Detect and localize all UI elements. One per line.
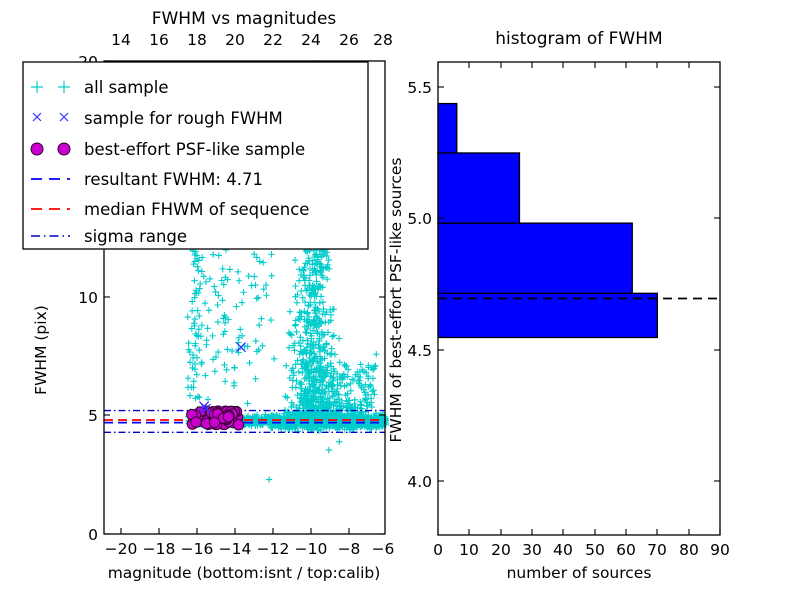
x-tick-label: 0 xyxy=(433,541,443,559)
top-tick-label: 24 xyxy=(301,31,321,49)
x-tick-label: 30 xyxy=(522,541,542,559)
psf-sample-point xyxy=(191,417,201,427)
legend-label: sigma range xyxy=(84,227,187,246)
y-tick-label: 4.0 xyxy=(407,473,432,491)
y-tick-label: 10 xyxy=(78,289,98,307)
left-panel-ylabel: FWHM (pix) xyxy=(32,305,50,395)
left-panel-title: FWHM vs magnitudes xyxy=(152,9,337,29)
right-panel: histogram of FWHM xyxy=(387,29,730,582)
x-tick-label: −18 xyxy=(143,540,176,558)
top-tick-label: 18 xyxy=(187,31,207,49)
legend: all sample sample for rough FWHM best-ef… xyxy=(23,62,368,249)
psf-sample-point xyxy=(233,420,243,430)
psf-sample-point xyxy=(223,412,233,422)
x-tick-label: −6 xyxy=(372,540,395,558)
y-tick-label: 0 xyxy=(88,526,98,544)
right-panel-title: histogram of FWHM xyxy=(495,29,662,49)
x-tick-label: −16 xyxy=(181,540,214,558)
x-tick-label: 90 xyxy=(710,541,730,559)
x-tick-label: 20 xyxy=(491,541,511,559)
legend-label: all sample xyxy=(84,78,169,97)
x-tick-label: 40 xyxy=(553,541,573,559)
right-panel-xlabel: number of sources xyxy=(507,564,652,582)
y-tick-label: 5.0 xyxy=(407,210,432,228)
legend-label: resultant FWHM: 4.71 xyxy=(84,170,263,189)
top-tick-label: 14 xyxy=(111,31,131,49)
scatter-psf-sample xyxy=(187,406,244,430)
y-tick-label: 4.5 xyxy=(407,342,432,360)
legend-label: best-effort PSF-like sample xyxy=(84,140,305,159)
filled-circle-icon xyxy=(31,143,43,155)
histogram-bar xyxy=(438,104,457,153)
histogram-bar xyxy=(438,153,519,223)
top-tick-label: 28 xyxy=(373,31,393,49)
y-tick-label: 5 xyxy=(88,407,98,425)
top-tick-label: 22 xyxy=(263,31,283,49)
legend-label: sample for rough FWHM xyxy=(84,109,283,128)
legend-label: median FHWM of sequence xyxy=(84,200,309,219)
histogram-bar xyxy=(438,223,632,293)
x-tick-label: −20 xyxy=(105,540,138,558)
x-tick-label: 80 xyxy=(679,541,699,559)
top-tick-label: 20 xyxy=(225,31,245,49)
x-tick-label: 70 xyxy=(647,541,667,559)
left-panel-bottom-tick-labels: −20 −18 −16 −14 −12 −10 −8 −6 xyxy=(105,540,395,558)
x-tick-label: −8 xyxy=(338,540,361,558)
psf-sample-point xyxy=(209,417,219,427)
x-tick-label: 10 xyxy=(459,541,479,559)
x-tick-label: 60 xyxy=(616,541,636,559)
filled-circle-icon xyxy=(58,143,70,155)
x-tick-label: 50 xyxy=(585,541,605,559)
y-tick-label: 5.5 xyxy=(407,79,432,97)
right-panel-ylabel: FWHM of best-effort PSF-like sources xyxy=(387,157,405,442)
top-tick-label: 26 xyxy=(339,31,359,49)
x-tick-label: −14 xyxy=(219,540,252,558)
figure-canvas: FWHM vs magnitudes 14 16 18 20 22 24 26 … xyxy=(0,0,800,600)
left-panel-xlabel: magnitude (bottom:isnt / top:calib) xyxy=(108,564,381,582)
x-tick-label: −10 xyxy=(295,540,328,558)
histogram-bar xyxy=(438,293,657,337)
x-tick-label: −12 xyxy=(257,540,290,558)
top-tick-label: 16 xyxy=(149,31,169,49)
